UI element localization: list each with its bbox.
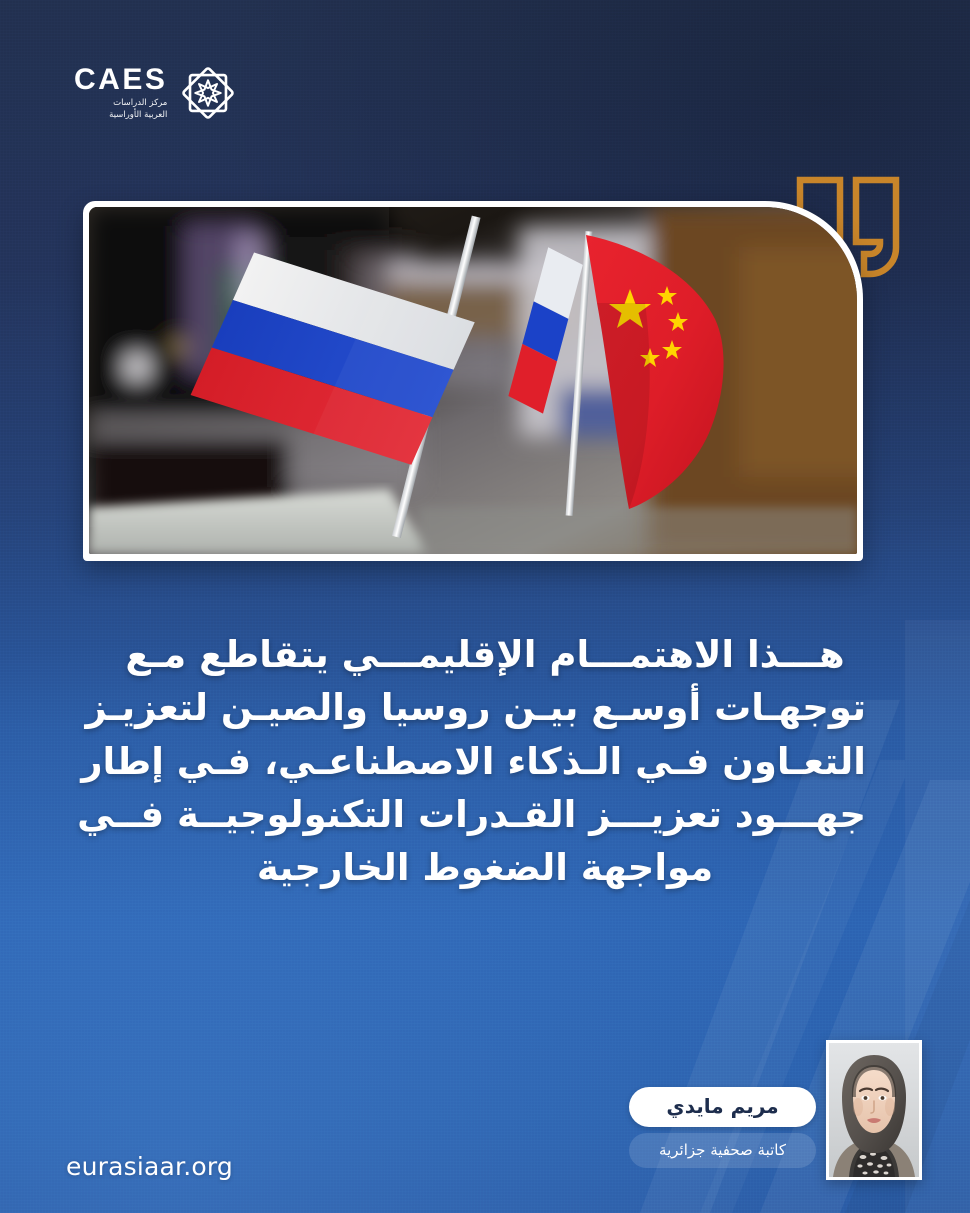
headline-line-2: توجهـات أوسـع بيـن روسيا والصيـن لتعزيـز [104, 681, 866, 734]
hero-photo-frame [83, 201, 863, 561]
author-avatar-frame [826, 1040, 922, 1180]
social-card: CAES مركز الدراسات العربية الأوراسية [0, 0, 970, 1213]
headline: هـــذا الاهتمـــام الإقليمـــي يتقاطع مـ… [104, 628, 866, 894]
brand-arabic-line-2: العربية الأوراسية [109, 110, 167, 121]
author-name-badge: مريم مايدي [629, 1087, 816, 1127]
author-role-badge: كاتبة صحفية جزائرية [629, 1133, 816, 1168]
author-block: مريم مايدي كاتبة صحفية جزائرية [629, 1040, 922, 1180]
brand-arabic-name: مركز الدراسات العربية الأوراسية [109, 98, 167, 121]
website-url[interactable]: eurasiaar.org [66, 1152, 233, 1181]
brand-logo[interactable]: CAES مركز الدراسات العربية الأوراسية [74, 62, 237, 124]
brand-acronym: CAES [74, 65, 167, 95]
hero-photo [89, 207, 857, 554]
headline-line-1: هـــذا الاهتمـــام الإقليمـــي يتقاطع مـ… [104, 628, 866, 681]
headline-line-3: التعـاون فـي الـذكاء الاصطناعـي، فـي إطا… [104, 735, 866, 788]
brand-arabic-line-1: مركز الدراسات [109, 98, 167, 109]
headline-line-4: جهـــود تعزيـــز القـدرات التكنولوجيــة … [104, 788, 866, 841]
brand-wordmark: CAES مركز الدراسات العربية الأوراسية [74, 65, 167, 121]
avatar [829, 1043, 919, 1177]
author-text: مريم مايدي كاتبة صحفية جزائرية [629, 1087, 816, 1180]
eight-point-star-logo-icon [179, 64, 237, 122]
headline-line-5: مواجهة الضغوط الخارجية [104, 841, 866, 894]
